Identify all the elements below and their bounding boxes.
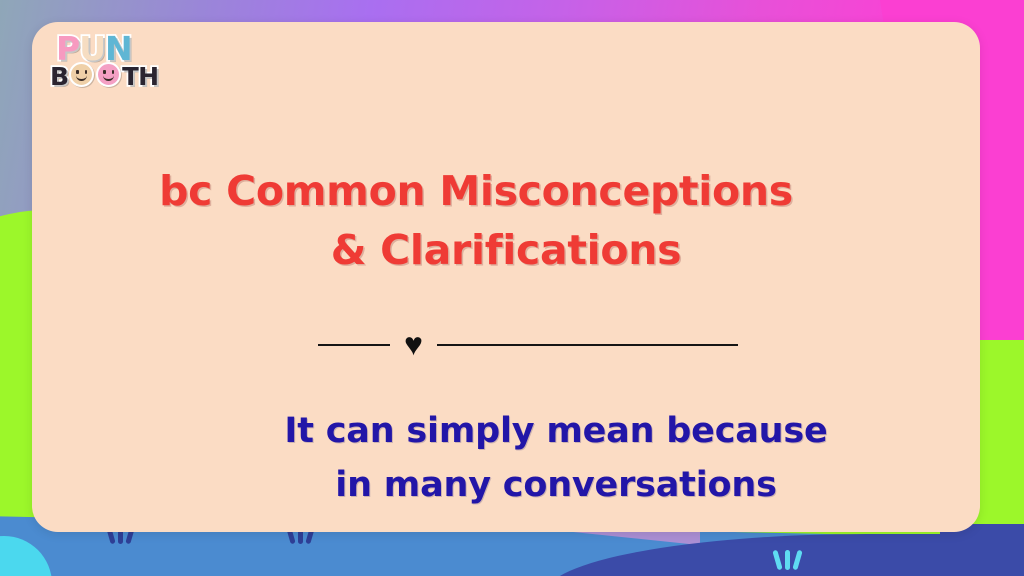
logo-letter-u: U (79, 32, 105, 65)
logo-letter-p: P (56, 32, 79, 65)
content-card: P U N B T H bc Common Misconceptions & C… (32, 22, 980, 532)
divider-line-right (437, 344, 738, 346)
punbooth-logo[interactable]: P U N B T H (50, 32, 175, 89)
decorative-ticks-right (775, 550, 800, 570)
headline: bc Common Misconceptions & Clarification… (32, 162, 980, 281)
body-text: It can simply mean because in many conve… (32, 404, 940, 513)
body-text-line-1: It can simply mean because (32, 404, 940, 458)
smiley-face-icon-pink (96, 62, 121, 87)
logo-word-pun: P U N (56, 32, 175, 65)
logo-letter-n: N (105, 32, 132, 65)
smiley-face-icon-tan (69, 62, 94, 87)
headline-line-1: bc Common Misconceptions (92, 162, 920, 221)
heart-icon: ♥ (404, 328, 423, 360)
slide-canvas: P U N B T H bc Common Misconceptions & C… (0, 0, 1024, 576)
divider-line-left (318, 344, 390, 346)
logo-letter-t: T (122, 64, 138, 89)
heart-divider: ♥ (318, 322, 738, 368)
body-text-line-2: in many conversations (32, 458, 940, 512)
logo-letter-h: H (138, 64, 158, 89)
logo-letter-b: B (50, 64, 68, 89)
headline-line-2: & Clarifications (92, 221, 920, 280)
